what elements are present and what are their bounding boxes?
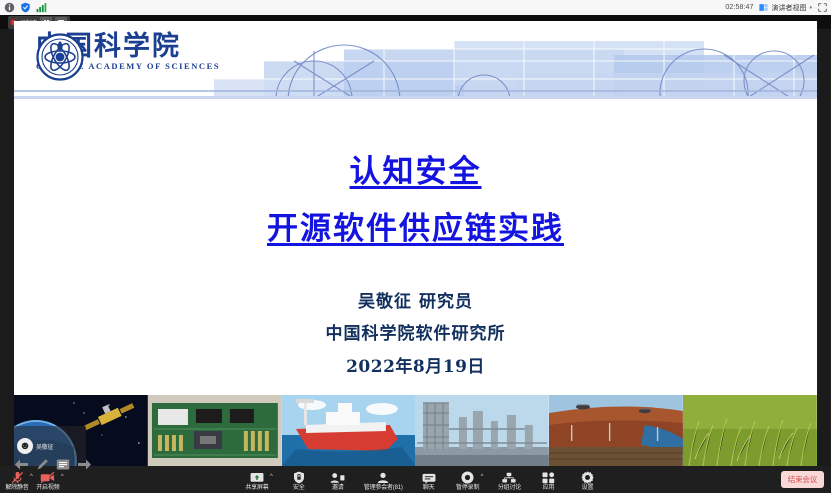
gear-icon bbox=[581, 471, 594, 484]
apps-label: 应用 bbox=[543, 485, 555, 491]
signal-icon[interactable] bbox=[36, 2, 47, 13]
share-screen-icon bbox=[250, 471, 264, 484]
share-screen-button[interactable]: 共享屏幕 bbox=[244, 469, 270, 491]
pause-recording-label: 暂停录制 bbox=[456, 485, 479, 491]
audio-options-chevron-icon[interactable]: ^ bbox=[30, 474, 33, 480]
record-options-chevron-icon[interactable]: ^ bbox=[481, 474, 484, 480]
apps-grid-icon bbox=[542, 471, 555, 484]
chevron-down-icon: ▾ bbox=[809, 5, 812, 11]
info-icon[interactable] bbox=[4, 2, 15, 13]
cas-logo: 中国科学院 CHINESE ACADEMY OF SCIENCES bbox=[36, 33, 220, 71]
meeting-top-right: 02:58:47 演讲者视图 ▾ bbox=[725, 1, 827, 14]
text-lines-icon[interactable] bbox=[56, 458, 70, 471]
research-vessel-photo bbox=[282, 395, 416, 466]
zoom-meeting-window: 录制中 02:58:47 演讲者视图 ▾ bbox=[0, 0, 831, 493]
oil-refinery-photo bbox=[415, 395, 549, 466]
arrow-left-icon[interactable] bbox=[14, 458, 29, 471]
cas-emblem-icon bbox=[36, 33, 84, 81]
invite-button[interactable]: 邀请 bbox=[325, 469, 351, 491]
presenter-affiliation: 中国科学院软件研究所 bbox=[326, 319, 506, 344]
meeting-control-bar: 解除静音 ^ 开启视频 ^ bbox=[0, 466, 831, 493]
settings-label: 设置 bbox=[582, 485, 594, 491]
breakout-rooms-button[interactable]: 分组讨论 bbox=[496, 469, 522, 491]
rice-field-photo bbox=[683, 395, 817, 466]
start-video-button[interactable]: 开启视频 bbox=[35, 469, 61, 491]
slide-photo-strip bbox=[14, 395, 817, 466]
pause-recording-control[interactable]: 暂停录制 bbox=[455, 469, 481, 491]
record-circle-icon bbox=[461, 471, 474, 484]
microphone-muted-icon bbox=[11, 471, 24, 484]
unmute-button[interactable]: 解除静音 bbox=[4, 469, 30, 491]
breakout-rooms-label: 分组讨论 bbox=[498, 485, 521, 491]
security-shield-icon bbox=[293, 471, 305, 484]
meeting-timer: 02:58:47 bbox=[725, 4, 753, 11]
slide-header: 中国科学院 CHINESE ACADEMY OF SCIENCES bbox=[14, 21, 817, 99]
slide-body: 认知安全 开源软件供应链实践 吴敬征 研究员 中国科学院软件研究所 2022年8… bbox=[14, 99, 817, 395]
shield-icon[interactable] bbox=[20, 2, 31, 13]
security-button[interactable]: 安全 bbox=[286, 469, 312, 491]
video-off-icon bbox=[40, 471, 55, 484]
slide-title-main: 认知安全 bbox=[350, 157, 482, 188]
participants-button[interactable]: 管理参会者(81) bbox=[364, 469, 403, 491]
slide-presenter-info: 吴敬征 研究员 中国科学院软件研究所 2022年8月19日 bbox=[326, 287, 506, 377]
participants-label: 管理参会者(81) bbox=[364, 485, 403, 491]
apps-button[interactable]: 应用 bbox=[535, 469, 561, 491]
fullscreen-icon[interactable] bbox=[818, 3, 827, 12]
annotation-toolbar[interactable] bbox=[14, 458, 92, 471]
control-bar-left: 解除静音 ^ 开启视频 ^ bbox=[0, 469, 64, 491]
shared-slide: 中国科学院 CHINESE ACADEMY OF SCIENCES 认知安全 开… bbox=[14, 21, 817, 466]
unmute-label: 解除静音 bbox=[5, 485, 28, 491]
presenter-name: 吴敬征 研究员 bbox=[326, 287, 506, 312]
end-meeting-button[interactable]: 结束会议 bbox=[781, 471, 824, 488]
circuit-board-photo bbox=[148, 395, 282, 466]
slide-title-sub: 开源软件供应链实践 bbox=[267, 214, 564, 245]
chat-button[interactable]: 聊天 bbox=[416, 469, 442, 491]
smiley-reaction-icon: ☻ bbox=[17, 438, 33, 454]
pencil-icon[interactable] bbox=[36, 458, 49, 471]
view-mode-selector[interactable]: 演讲者视图 ▾ bbox=[759, 3, 812, 13]
breakout-rooms-icon bbox=[502, 471, 516, 484]
security-label: 安全 bbox=[293, 485, 305, 491]
control-bar-right: 结束会议 bbox=[781, 471, 831, 488]
share-options-chevron-icon[interactable]: ^ bbox=[270, 474, 273, 480]
chat-label: 聊天 bbox=[423, 485, 435, 491]
aerial-landscape-photo bbox=[549, 395, 683, 466]
presentation-date: 2022年8月19日 bbox=[326, 352, 506, 377]
view-mode-label: 演讲者视图 bbox=[771, 3, 806, 13]
invite-label: 邀请 bbox=[332, 485, 344, 491]
self-view-name: 吴敬征 bbox=[36, 442, 53, 451]
control-bar-center: 共享屏幕 ^ 安全 bbox=[64, 469, 781, 491]
os-status-bar bbox=[0, 0, 831, 15]
invite-person-icon bbox=[330, 471, 345, 484]
share-screen-label: 共享屏幕 bbox=[245, 485, 268, 491]
start-video-label: 开启视频 bbox=[36, 485, 59, 491]
settings-button[interactable]: 设置 bbox=[574, 469, 600, 491]
speaker-view-icon bbox=[759, 3, 768, 12]
arrow-right-icon[interactable] bbox=[77, 458, 92, 471]
chat-bubble-icon bbox=[422, 471, 436, 484]
participants-icon bbox=[376, 471, 390, 484]
